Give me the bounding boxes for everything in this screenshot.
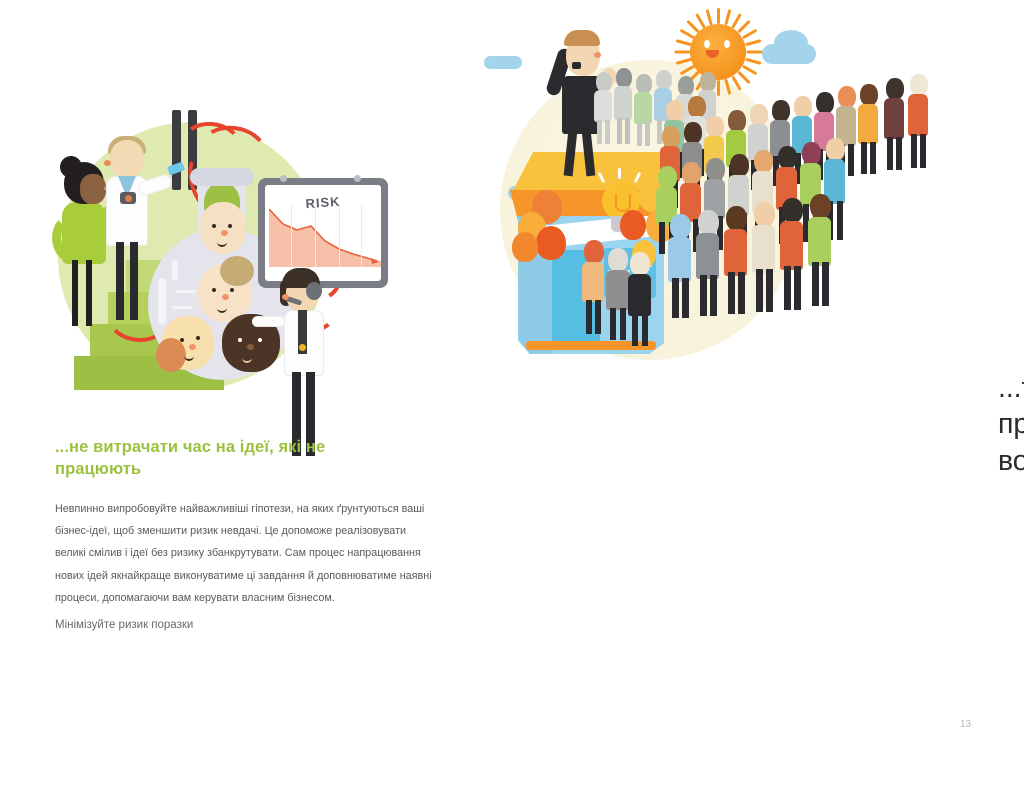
person-scientist-camera (102, 138, 192, 324)
page-number: 13 (960, 719, 971, 730)
body-line: Невпинно випробовуйте найважливіші гіпот… (55, 498, 455, 520)
risk-chart-svg (269, 205, 381, 267)
person-crowd-back (614, 68, 634, 144)
person-crowd (884, 78, 906, 170)
cloud-icon (774, 30, 808, 56)
document-page: RISK (0, 0, 1024, 802)
face-in-flask-1 (200, 202, 246, 254)
left-heading: ...не витрачати час на ідеї, які не прац… (55, 437, 395, 481)
flask-lip (190, 168, 254, 186)
person-customer-red-hair (582, 240, 608, 336)
person-crowd (858, 84, 880, 174)
body-line: бізнес-ідеї, щоб зменшити ризик невдачі.… (55, 520, 455, 542)
person-crowd-back (594, 72, 614, 144)
left-column: RISK (0, 0, 470, 802)
person-crowd-front (668, 214, 694, 318)
lab-flask-team-illustration: RISK (40, 100, 370, 400)
right-column: ...творити, тестувати та пропонувати клі… (470, 0, 1024, 802)
person-crowd-front (752, 202, 778, 312)
cloud-icon (484, 56, 522, 69)
risk-chart-plot (269, 205, 381, 267)
balloon (512, 232, 538, 262)
person-crowd (908, 74, 930, 168)
person-crowd-front (696, 210, 722, 316)
body-line: нових ідей якнайкраще виконуватиме ці за… (55, 565, 455, 587)
left-sub-note: Мінімізуйте ризик поразки (55, 619, 395, 631)
person-crowd-back (634, 74, 654, 146)
body-line: процеси, допомагаючи вам керувати власни… (55, 587, 455, 609)
shop-opening-crowd-illustration (470, 0, 1024, 370)
person-scientist-headset (278, 268, 358, 458)
face-in-flask-3 (162, 316, 214, 370)
person-crowd-front (780, 198, 806, 310)
body-line: великі смілив і ідеї без ризику збанкрут… (55, 542, 455, 564)
right-heading: ...творити, тестувати та пропонувати клі… (998, 370, 1024, 479)
person-customer-black-suit (628, 252, 654, 346)
person-crowd-front (808, 194, 834, 306)
balloon (536, 226, 566, 260)
left-body-copy: Невпинно випробовуйте найважливіші гіпот… (55, 498, 455, 609)
balloon (620, 210, 646, 240)
person-crowd-front (724, 206, 750, 314)
risk-chart-screen: RISK (265, 185, 381, 281)
